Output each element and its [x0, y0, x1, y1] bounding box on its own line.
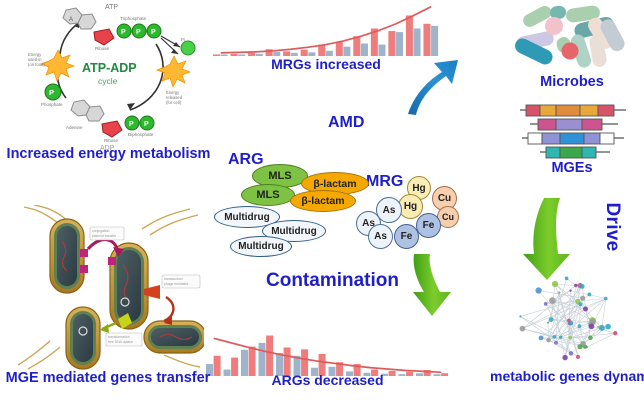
svg-text:P: P — [121, 29, 126, 36]
bacterium-recipient-3 — [144, 321, 204, 353]
triphosphate-label: Triphosphate — [120, 16, 147, 21]
mges-caption: MGEs — [508, 160, 636, 176]
metabolic-gene-network-graph — [508, 272, 632, 364]
gene-bubble-blactam-2: β-lactam — [290, 190, 356, 212]
gene-bubble-as-3: As — [368, 224, 393, 249]
cycle-title: ATP-ADP — [82, 61, 137, 75]
network-caption: metabolic genes dynamic — [490, 368, 644, 384]
phosphate-label: Phosphate — [41, 102, 63, 107]
drive-label: Drive — [601, 187, 623, 267]
mge-transfer-panel: conjugationplasmid transfer transduction… — [14, 205, 204, 370]
svg-text:transduction: transduction — [164, 277, 183, 281]
contamination-label: Contamination — [266, 270, 399, 292]
arg-bar-chart-svg — [205, 326, 450, 378]
energy-metabolism-panel: A P P P ATP Ribose Triphosphate Pi Energ… — [8, 2, 208, 152]
svg-text:plasmid transfer: plasmid transfer — [92, 234, 117, 238]
svg-text:P: P — [136, 29, 141, 36]
gene-bubble-fe-2: Fe — [416, 213, 441, 238]
svg-text:conjugation: conjugation — [92, 229, 109, 233]
atp-adp-cycle-diagram: A P P P ATP Ribose Triphosphate Pi Energ… — [8, 2, 208, 152]
svg-text:P: P — [129, 121, 134, 128]
mrg-group-label: MRG — [366, 173, 403, 191]
atp-label: ATP — [105, 4, 118, 11]
diphosphate-label: Diphosphate — [128, 132, 154, 137]
bacterium-recipient-2 — [66, 307, 100, 369]
adenine-label: Adenine — [66, 125, 83, 130]
svg-text:free DNA uptake: free DNA uptake — [108, 340, 133, 344]
mrgs-increased-chart — [212, 0, 440, 58]
microbes-illustration — [508, 4, 636, 76]
cycle-subtitle: cycle — [98, 76, 118, 86]
blue-up-arrow-icon — [404, 58, 460, 116]
svg-text:P: P — [49, 88, 54, 97]
mrg-bar-chart-svg — [212, 0, 440, 58]
mge-transfer-caption: MGE mediated genes transfer — [2, 370, 214, 386]
pi-label: Pi — [181, 37, 185, 42]
amd-title: AMD — [328, 114, 364, 132]
svg-text:(for cell): (for cell) — [166, 100, 182, 105]
mge-cassettes-illustration — [518, 103, 630, 161]
network-panel — [508, 272, 632, 364]
ribose-label-bottom: Ribose — [104, 138, 119, 143]
green-down-arrow-icon — [520, 196, 576, 282]
bacterium-donor — [50, 219, 84, 293]
microbes-panel — [508, 4, 636, 76]
energy-burst-left-icon — [41, 50, 74, 81]
energy-metabolism-caption: Increased energy metabolism — [6, 146, 211, 162]
svg-text:(on food): (on food) — [28, 62, 45, 67]
microbes-caption: Microbes — [508, 74, 636, 90]
horizontal-gene-transfer-diagram: conjugationplasmid transfer transduction… — [14, 205, 204, 370]
drive-arrow-wrap — [520, 196, 576, 282]
gene-bubble-multidrug-3: Multidrug — [230, 236, 292, 257]
args-decreased-chart — [205, 326, 450, 378]
svg-text:phage mediated: phage mediated — [164, 282, 188, 286]
args-decreased-caption: ARGs decreased — [205, 372, 450, 388]
svg-text:P: P — [144, 121, 149, 128]
green-down-arrow-center-icon — [404, 252, 460, 318]
gene-bubble-mls-2: MLS — [241, 184, 295, 206]
arg-group-label: ARG — [228, 151, 264, 169]
svg-text:P: P — [151, 29, 156, 36]
svg-text:transformation: transformation — [108, 335, 130, 339]
adenine-letter: A — [69, 17, 73, 23]
ribose-label-top: Ribose — [95, 46, 110, 51]
energy-burst-right-icon — [157, 56, 190, 87]
mges-panel — [518, 103, 630, 161]
